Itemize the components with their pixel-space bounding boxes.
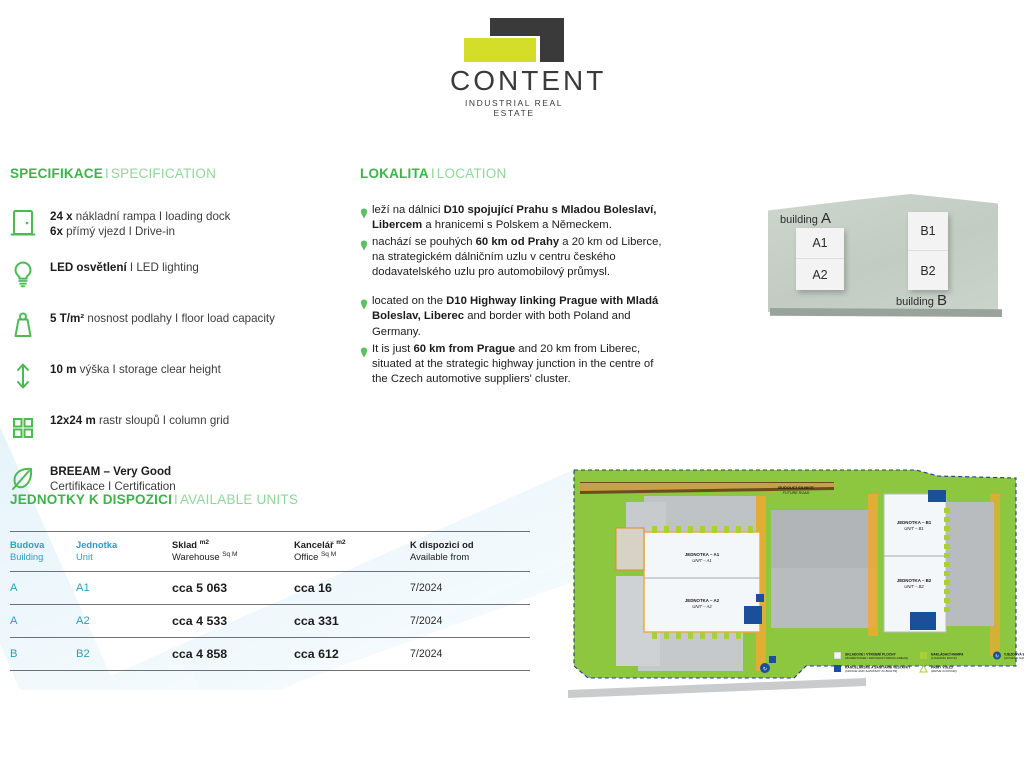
cell-available: 7/2024 <box>410 572 530 605</box>
col-building: Budova Building <box>10 532 76 572</box>
siteplan-future-road-en: FUTURE ROAD <box>783 491 810 495</box>
building-b-label-letter: B <box>937 292 947 309</box>
location-heading-separator: I <box>429 166 437 181</box>
siteplan-unit-b2-cz: JEDNOTKA – B2 <box>897 578 932 583</box>
location-block-english: located on the D10 Highway linking Pragu… <box>360 294 670 386</box>
units-heading-separator: I <box>172 492 180 507</box>
spec-item-text: 24 x nákladní rampa I loading dock 6x př… <box>50 207 230 240</box>
spec-item-text: 10 m výška I storage clear height <box>50 360 221 377</box>
spec-bold: 24 x <box>50 210 73 223</box>
spec-item-clear-height: 10 m výška I storage clear height <box>10 360 350 396</box>
central-yard-asphalt-2 <box>771 510 876 568</box>
col-warehouse-cz-sup: m2 <box>200 539 209 546</box>
location-heading: LOKALITAILOCATION <box>360 166 670 181</box>
building-a-loading-docks-north <box>652 526 753 533</box>
building-a-unit-a1: A1 <box>796 228 844 259</box>
spec-item-column-grid: 12x24 m rastr sloupů I column grid <box>10 411 350 447</box>
cell-office: cca 16 <box>294 572 410 605</box>
building-b-unit-b1: B1 <box>908 212 948 251</box>
legend-drivein-en: (DRIVE IN DOOR) <box>931 669 957 673</box>
clear-height-arrow-icon <box>10 360 50 396</box>
loading-dock-door-icon <box>10 207 50 243</box>
siteplan-future-road-cz: BUDOUCÍ SILNICE <box>778 485 814 490</box>
location-heading-en: LOCATION <box>437 166 507 181</box>
floor-load-weight-icon <box>10 309 50 345</box>
map-pin-bullet-icon <box>360 203 372 224</box>
spec-bold: 5 T/m² <box>50 312 84 325</box>
logo-mark-icon <box>454 18 574 64</box>
specification-section: SPECIFIKACEISPECIFICATION 24 x nákladní … <box>10 166 350 510</box>
col-warehouse-en-sup: Sq M <box>222 551 237 558</box>
building-b-footprint <box>884 494 946 632</box>
spec-item-text: BREEAM – Very Good Certifikace I Certifi… <box>50 462 176 495</box>
cell-available: 7/2024 <box>410 605 530 638</box>
col-unit-en: Unit <box>76 551 172 563</box>
legend-warehouse-en: (WAREHOUSE / MANUFACTURING AREAS) <box>845 656 908 660</box>
building-a-block: A1 A2 <box>796 228 844 290</box>
cell-building: A <box>10 605 76 638</box>
legend-office-en: (OFFICE AND SANITARY IN-BUILTS) <box>845 669 897 673</box>
cell-unit: A2 <box>76 605 172 638</box>
col-warehouse-cz-text: Sklad <box>172 539 197 550</box>
location-block-czech: leží na dálnici D10 spojující Prahu s Ml… <box>360 203 670 280</box>
specification-list: 24 x nákladní rampa I loading dock 6x př… <box>10 207 350 498</box>
units-heading-en: AVAILABLE UNITS <box>180 492 298 507</box>
building-a-sanitary-inbuilt <box>756 594 764 602</box>
building-a-label: building A <box>780 210 831 227</box>
col-office-cz: Kancelář m2 <box>294 539 410 551</box>
spec-rest: nákladní rampa I loading dock <box>73 210 231 223</box>
legend-swatch-loading-dock <box>920 652 927 659</box>
col-warehouse-en-text: Warehouse <box>172 551 220 562</box>
units-heading: JEDNOTKY K DISPOZICIIAVAILABLE UNITS <box>10 492 530 507</box>
cell-warehouse: cca 5 063 <box>172 572 294 605</box>
spec-bold-2: 6x <box>50 225 63 238</box>
spec-rest: I LED lighting <box>127 261 199 274</box>
loc-bold: 60 km from Prague <box>413 343 515 355</box>
spec-item-loading-dock: 24 x nákladní rampa I loading dock 6x př… <box>10 207 350 243</box>
cell-warehouse: cca 4 533 <box>172 605 294 638</box>
building-overview-diagram: building A A1 A2 B1 B2 building B <box>756 188 1014 328</box>
cell-building: B <box>10 638 76 671</box>
siteplan-unit-a1-en: UNIT – A1 <box>692 558 711 563</box>
spec-bold: BREEAM – Very Good <box>50 465 171 478</box>
content-logo: CONTENT INDUSTRIAL REAL ESTATE <box>450 18 578 118</box>
available-units-section: JEDNOTKY K DISPOZICIIAVAILABLE UNITS Bud… <box>10 492 530 671</box>
units-header-row: Budova Building Jednotka Unit Sklad m2 W… <box>10 532 530 572</box>
building-b-block: B1 B2 <box>908 212 948 290</box>
building-b-label: building B <box>896 292 947 309</box>
logo-wordmark: CONTENT <box>450 66 578 95</box>
location-paragraph: located on the D10 Highway linking Pragu… <box>372 294 670 339</box>
building-a-reserve-area <box>616 528 644 570</box>
site-ground-shadow <box>770 308 1002 317</box>
col-warehouse: Sklad m2 Warehouse Sq M <box>172 532 294 572</box>
building-a-label-letter: A <box>821 210 831 227</box>
units-heading-cz: JEDNOTKY K DISPOZICI <box>10 492 172 507</box>
col-building-en: Building <box>10 551 76 563</box>
cell-available: 7/2024 <box>410 638 530 671</box>
cell-unit: A1 <box>76 572 172 605</box>
svg-text:↻: ↻ <box>763 667 767 673</box>
brochure-page: CONTENT INDUSTRIAL REAL ESTATE SPECIFIKA… <box>0 0 1024 768</box>
cell-office: cca 612 <box>294 638 410 671</box>
spec-item-floor-load: 5 T/m² nosnost podlahy I floor load capa… <box>10 309 350 345</box>
spec-rest: rastr sloupů I column grid <box>96 414 229 427</box>
col-office-en-sup: Sq M <box>321 551 336 558</box>
column-grid-icon <box>10 411 50 447</box>
building-a-unit-a2: A2 <box>796 259 844 290</box>
spec-item-text: 5 T/m² nosnost podlahy I floor load capa… <box>50 309 275 326</box>
building-b-east-yard <box>946 502 994 626</box>
spec-item-led-lighting: LED osvětlení I LED lighting <box>10 258 350 294</box>
cell-building: A <box>10 572 76 605</box>
col-office-cz-text: Kancelář <box>294 539 334 550</box>
col-office: Kancelář m2 Office Sq M <box>294 532 410 572</box>
units-table-head: Budova Building Jednotka Unit Sklad m2 W… <box>10 532 530 572</box>
location-paragraph: It is just 60 km from Prague and 20 km f… <box>372 342 670 387</box>
spec-bold: 10 m <box>50 363 76 376</box>
building-a-footprint <box>644 532 760 632</box>
spec-bold: 12x24 m <box>50 414 96 427</box>
cell-unit: B2 <box>76 638 172 671</box>
building-a-label-prefix: building <box>780 214 818 226</box>
col-unit: Jednotka Unit <box>76 532 172 572</box>
table-row: B B2 cca 4 858 cca 612 7/2024 <box>10 638 530 671</box>
siteplan-unit-a2-en: UNIT – A2 <box>692 604 712 609</box>
location-paragraph: leží na dálnici D10 spojující Prahu s Ml… <box>372 203 670 233</box>
available-units-table: Budova Building Jednotka Unit Sklad m2 W… <box>10 531 530 671</box>
access-gate-south-icon: ↻ <box>760 663 770 673</box>
location-bullet-item: nachází se pouhých 60 km od Prahy a 20 k… <box>360 235 670 280</box>
col-office-en-text: Office <box>294 551 318 562</box>
map-pin-bullet-icon <box>360 294 372 315</box>
col-available: K dispozici od Available from <box>410 532 530 572</box>
loc-pre: leží na dálnici <box>372 204 444 216</box>
internal-access-road-east <box>868 494 878 636</box>
loc-pre: It is just <box>372 343 413 355</box>
legend-swatch-office <box>834 665 841 672</box>
lightbulb-icon <box>10 258 50 294</box>
building-b-unit-b2: B2 <box>908 251 948 290</box>
public-road-strip <box>568 678 866 698</box>
spec-rest: výška I storage clear height <box>76 363 220 376</box>
spec-item-text: LED osvětlení I LED lighting <box>50 258 199 275</box>
location-body: leží na dálnici D10 spojující Prahu s Ml… <box>360 203 670 387</box>
building-b-label-prefix: building <box>896 296 934 308</box>
location-paragraph: nachází se pouhých 60 km od Prahy a 20 k… <box>372 235 670 280</box>
building-b2-office-inbuilt <box>910 612 936 630</box>
cell-office: cca 331 <box>294 605 410 638</box>
col-warehouse-en: Warehouse Sq M <box>172 551 294 563</box>
siteplan-unit-a1-cz: JEDNOTKA – A1 <box>685 552 720 557</box>
specification-heading-en: SPECIFICATION <box>111 166 216 181</box>
col-building-cz: Budova <box>10 539 76 551</box>
siteplan-unit-b1-cz: JEDNOTKA – B1 <box>897 520 932 525</box>
cell-warehouse: cca 4 858 <box>172 638 294 671</box>
spec-bold: LED osvětlení <box>50 261 127 274</box>
location-bullet-item: It is just 60 km from Prague and 20 km f… <box>360 342 670 387</box>
svg-text:↻: ↻ <box>995 653 999 658</box>
spec-rest-2: přímý vjezd I Drive-in <box>63 225 175 238</box>
location-bullet-item: leží na dálnici D10 spojující Prahu s Ml… <box>360 203 670 233</box>
siteplan-unit-b1-en: UNIT – B1 <box>904 526 924 531</box>
legend-swatch-warehouse <box>834 652 841 659</box>
loc-bold: 60 km od Prahy <box>476 236 560 248</box>
location-section: LOKALITAILOCATION leží na dálnici D10 sp… <box>360 166 670 401</box>
legend-swatch-access-gate-icon: ↻ <box>993 652 1001 660</box>
legend-gate-en: (ACCESS GATE) <box>1004 656 1024 660</box>
spec-rest: nosnost podlahy I floor load capacity <box>84 312 275 325</box>
units-table-body: A A1 cca 5 063 cca 16 7/2024 A A2 cca 4 … <box>10 572 530 671</box>
col-available-cz: K dispozici od <box>410 539 530 551</box>
building-b1-office-inbuilt <box>928 490 946 502</box>
site-plan-map: JEDNOTKA – A1 UNIT – A1 JEDNOTKA – A2 UN… <box>566 466 1024 706</box>
siteplan-unit-b2-en: UNIT – B2 <box>904 584 924 589</box>
col-office-en: Office Sq M <box>294 551 410 563</box>
col-office-cz-sup: m2 <box>336 539 345 546</box>
siteplan-unit-a2-cz: JEDNOTKA – A2 <box>685 598 720 603</box>
specification-heading-separator: I <box>103 166 111 181</box>
col-available-en: Available from <box>410 551 530 563</box>
legend-dock-en: (LOADING DOCK) <box>931 656 957 660</box>
loc-pre: located on the <box>372 295 446 307</box>
loc-pre: nachází se pouhých <box>372 236 476 248</box>
spec-item-text: 12x24 m rastr sloupů I column grid <box>50 411 229 428</box>
logo-tagline: INDUSTRIAL REAL ESTATE <box>450 98 578 118</box>
table-row: A A1 cca 5 063 cca 16 7/2024 <box>10 572 530 605</box>
location-bullet-item: located on the D10 Highway linking Pragu… <box>360 294 670 339</box>
table-row: A A2 cca 4 533 cca 331 7/2024 <box>10 605 530 638</box>
loc-post: a hranicemi s Polskem a Německem. <box>422 219 612 231</box>
specification-heading-cz: SPECIFIKACE <box>10 166 103 181</box>
map-pin-bullet-icon <box>360 342 372 363</box>
col-warehouse-cz: Sklad m2 <box>172 539 294 551</box>
map-pin-bullet-icon <box>360 235 372 256</box>
specification-heading: SPECIFIKACEISPECIFICATION <box>10 166 350 181</box>
location-heading-cz: LOKALITA <box>360 166 429 181</box>
col-unit-cz: Jednotka <box>76 539 172 551</box>
gatehouse-south <box>769 656 776 663</box>
building-a-office-inbuilt <box>744 606 762 624</box>
legend-swatch-drive-in-icon <box>920 665 927 672</box>
